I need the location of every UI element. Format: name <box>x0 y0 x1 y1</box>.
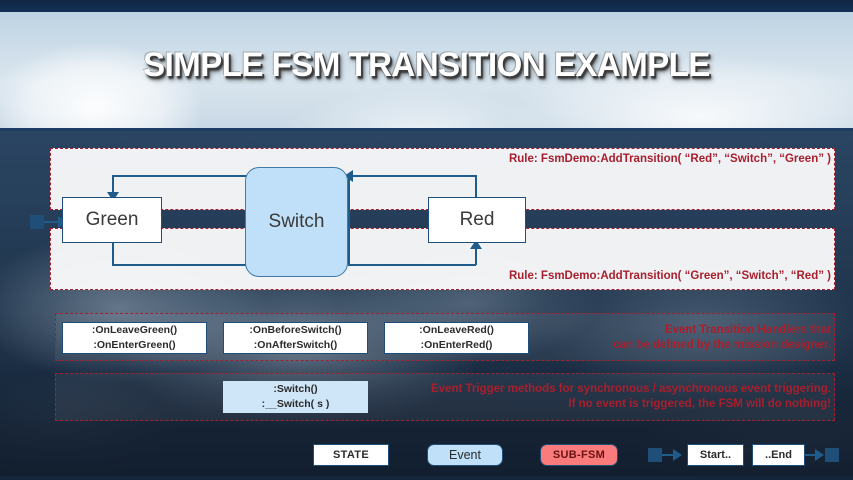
handlers-note-line2: can be defined by the mission designer. <box>613 339 831 351</box>
connector-green-bottom-drop <box>112 243 114 265</box>
legend-end-arrowhead-icon <box>815 449 824 461</box>
rule-text-red-switch-green: Rule: FsmDemo:AddTransition( “Red”, “Swi… <box>509 153 831 165</box>
legend-start-arrowhead-icon <box>673 449 682 461</box>
handlers-note-line1: Event Transition Handlers that <box>665 324 831 336</box>
state-label-green: Green <box>86 209 139 231</box>
handler-green-line1: :OnLeaveGreen() <box>92 323 177 338</box>
handler-box-green[interactable]: :OnLeaveGreen() :OnEnterGreen() <box>62 322 207 354</box>
bottom-accent-strip <box>0 476 853 480</box>
connector-switch-left-riser <box>348 175 350 265</box>
legend-subfsm-label: SUB-FSM <box>553 449 605 461</box>
legend-subfsm-swatch[interactable]: SUB-FSM <box>540 444 618 466</box>
rule-text-green-switch-red: Rule: FsmDemo:AddTransition( “Green”, “S… <box>509 270 831 282</box>
legend-start-square-icon <box>648 448 662 462</box>
triggers-note-line2: If no event is triggered, the FSM will d… <box>568 398 831 410</box>
trigger-switch-line2: :__Switch( s ) <box>262 397 330 412</box>
event-box-switch[interactable]: Switch <box>245 167 348 277</box>
state-box-red[interactable]: Red <box>428 197 526 243</box>
trigger-box-switch[interactable]: :Switch() :__Switch( s ) <box>223 381 368 413</box>
legend-end-square-icon <box>825 448 839 462</box>
connector-red-bottom-riser <box>475 247 477 265</box>
handler-box-switch[interactable]: :OnBeforeSwitch() :OnAfterSwitch() <box>223 322 368 354</box>
legend-event-label: Event <box>449 448 481 462</box>
triggers-dashed-container <box>55 373 835 421</box>
slide-title: SIMPLE FSM TRANSITION EXAMPLE <box>13 46 840 85</box>
legend-event-swatch[interactable]: Event <box>427 444 503 466</box>
legend-end-label: ..End <box>765 449 792 461</box>
handler-red-line2: :OnEnterRed() <box>421 338 493 353</box>
state-box-green[interactable]: Green <box>62 197 162 243</box>
handler-red-line1: :OnLeaveRed() <box>419 323 494 338</box>
start-marker-square <box>30 215 44 229</box>
legend-start-label: Start.. <box>700 449 731 461</box>
triggers-note-line1: Event Trigger methods for synchronous / … <box>431 383 831 395</box>
event-label-switch: Switch <box>269 211 325 233</box>
handler-box-red[interactable]: :OnLeaveRed() :OnEnterRed() <box>384 322 529 354</box>
connector-bottom-horizontal-right <box>348 264 476 266</box>
handler-green-line2: :OnEnterGreen() <box>93 338 175 353</box>
legend-end-box[interactable]: ..End <box>752 444 805 466</box>
trigger-switch-line1: :Switch() <box>273 382 317 397</box>
slide-canvas: SIMPLE FSM TRANSITION EXAMPLE Green Swit… <box>0 0 853 480</box>
legend-state-label: STATE <box>333 449 369 461</box>
connector-red-to-switch-top <box>348 175 476 177</box>
legend-state-swatch[interactable]: STATE <box>313 444 389 466</box>
state-label-red: Red <box>460 209 495 231</box>
handler-switch-line2: :OnAfterSwitch() <box>254 338 337 353</box>
legend-start-box[interactable]: Start.. <box>687 444 744 466</box>
handler-switch-line1: :OnBeforeSwitch() <box>249 323 341 338</box>
legend-bar: STATE Event SUB-FSM Start.. ..End <box>0 442 853 472</box>
top-accent-strip <box>0 0 853 12</box>
